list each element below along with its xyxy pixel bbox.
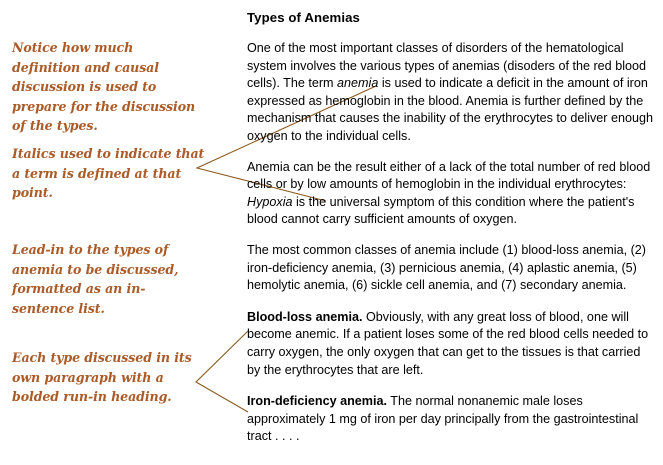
annotation-lead-in-list: Lead-in to the types of anemia to be dis… (12, 240, 205, 318)
run-in-heading-blood-loss: Blood-loss anemia. (247, 310, 362, 324)
annotation-definition-causal: Notice how much definition and causal di… (12, 38, 205, 136)
annotation-column: Notice how much definition and causal di… (12, 0, 207, 465)
paragraph-causes-text-a: Anemia can be the result either of a lac… (247, 160, 650, 192)
document-body: Types of Anemias One of the most importa… (247, 0, 655, 446)
paragraph-classes-list: The most common classes of anemia includ… (247, 242, 655, 295)
paragraph-causes-text-b: is the universal symptom of this conditi… (247, 195, 634, 227)
paragraph-classes-list-text: The most common classes of anemia includ… (247, 243, 646, 292)
run-in-heading-iron-deficiency: Iron-deficiency anemia. (247, 394, 387, 408)
annotation-run-in-heading: Each type discussed in its own paragraph… (12, 348, 205, 407)
annotation-italics-term: Italics used to indicate that a term is … (12, 144, 205, 203)
paragraph-causes: Anemia can be the result either of a lac… (247, 159, 655, 229)
paragraph-overview: One of the most important classes of dis… (247, 40, 655, 146)
page-title: Types of Anemias (247, 10, 655, 25)
document-page: Notice how much definition and causal di… (0, 0, 663, 465)
paragraph-blood-loss-anemia: Blood-loss anemia. Obviously, with any g… (247, 309, 655, 379)
italic-term-hypoxia: Hypoxia (247, 195, 293, 209)
italic-term-anemia: anemia (337, 76, 378, 90)
paragraph-iron-deficiency-anemia: Iron-deficiency anemia. The normal nonan… (247, 393, 655, 446)
